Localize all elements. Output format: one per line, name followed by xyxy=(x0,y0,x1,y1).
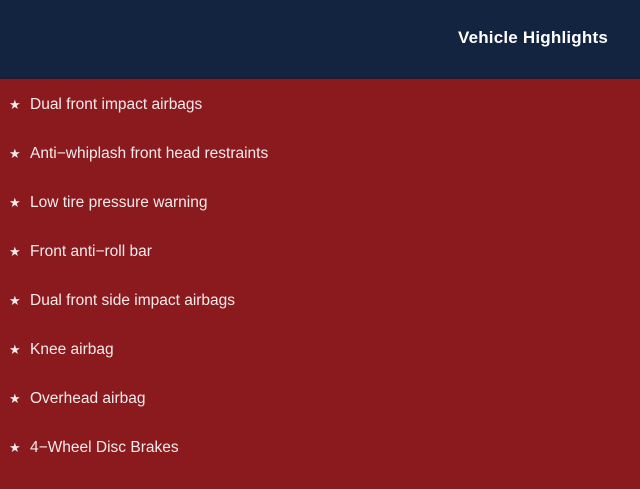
star-bullet-icon: ★ xyxy=(9,147,30,160)
list-item-label: Dual front side impact airbags xyxy=(30,293,235,309)
list-item: ★ Anti−whiplash front head restraints xyxy=(0,146,640,195)
list-item-label: Overhead airbag xyxy=(30,391,145,407)
list-item: ★ Overhead airbag xyxy=(0,391,640,440)
list-item-label: Dual front impact airbags xyxy=(30,97,202,113)
list-item: ★ Low tire pressure warning xyxy=(0,195,640,244)
list-item: ★ Dual front impact airbags xyxy=(0,97,640,146)
list-item-label: Anti−whiplash front head restraints xyxy=(30,146,268,162)
list-item-label: 4−Wheel Disc Brakes xyxy=(30,440,179,456)
star-bullet-icon: ★ xyxy=(9,294,30,307)
star-bullet-icon: ★ xyxy=(9,392,30,405)
list-item-label: Front anti−roll bar xyxy=(30,244,152,260)
star-bullet-icon: ★ xyxy=(9,441,30,454)
star-bullet-icon: ★ xyxy=(9,98,30,111)
list-item-label: Knee airbag xyxy=(30,342,114,358)
list-item: ★ Front anti−roll bar xyxy=(0,244,640,293)
page-title: Vehicle Highlights xyxy=(458,28,608,48)
vehicle-highlights-list: ★ Dual front impact airbags ★ Anti−whipl… xyxy=(0,79,640,489)
vehicle-highlights-slide: Vehicle Highlights ★ Dual front impact a… xyxy=(0,0,640,480)
star-bullet-icon: ★ xyxy=(9,245,30,258)
slide-header: Vehicle Highlights xyxy=(0,0,640,77)
list-item: ★ 4−Wheel Disc Brakes xyxy=(0,440,640,489)
star-bullet-icon: ★ xyxy=(9,196,30,209)
list-item-label: Low tire pressure warning xyxy=(30,195,207,211)
list-item: ★ Knee airbag xyxy=(0,342,640,391)
list-item: ★ Dual front side impact airbags xyxy=(0,293,640,342)
star-bullet-icon: ★ xyxy=(9,343,30,356)
highlights-body: ★ Dual front impact airbags ★ Anti−whipl… xyxy=(0,79,640,480)
